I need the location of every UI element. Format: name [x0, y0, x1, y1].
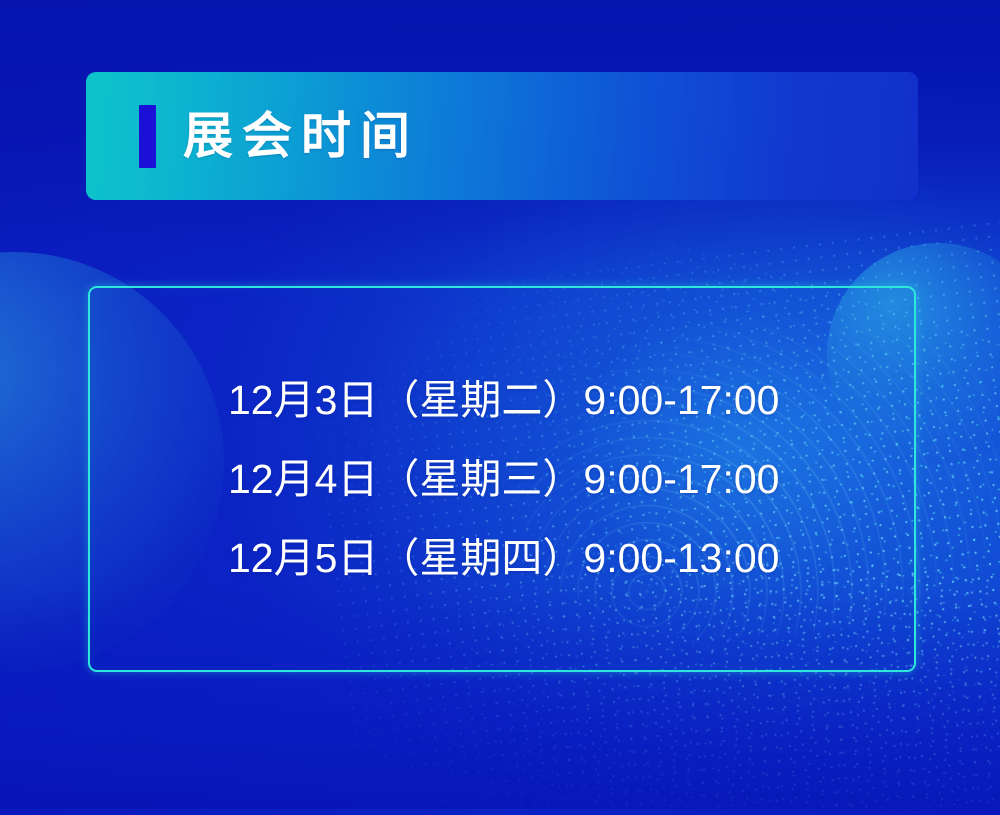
schedule-line: 12月3日（星期二）9:00-17:00 — [228, 361, 914, 440]
schedule-line: 12月4日（星期三）9:00-17:00 — [228, 440, 914, 519]
bottom-edge-strip — [0, 809, 1000, 815]
section-header-banner: 展会时间 — [86, 72, 918, 200]
vertical-accent-bar-icon — [139, 105, 156, 168]
page-title: 展会时间 — [183, 111, 419, 161]
exhibition-time-poster: 展会时间 12月3日（星期二）9:00-17:00 12月4日（星期三）9:00… — [0, 0, 1000, 815]
schedule-line: 12月5日（星期四）9:00-13:00 — [228, 519, 914, 598]
schedule-panel: 12月3日（星期二）9:00-17:00 12月4日（星期三）9:00-17:0… — [88, 286, 916, 672]
